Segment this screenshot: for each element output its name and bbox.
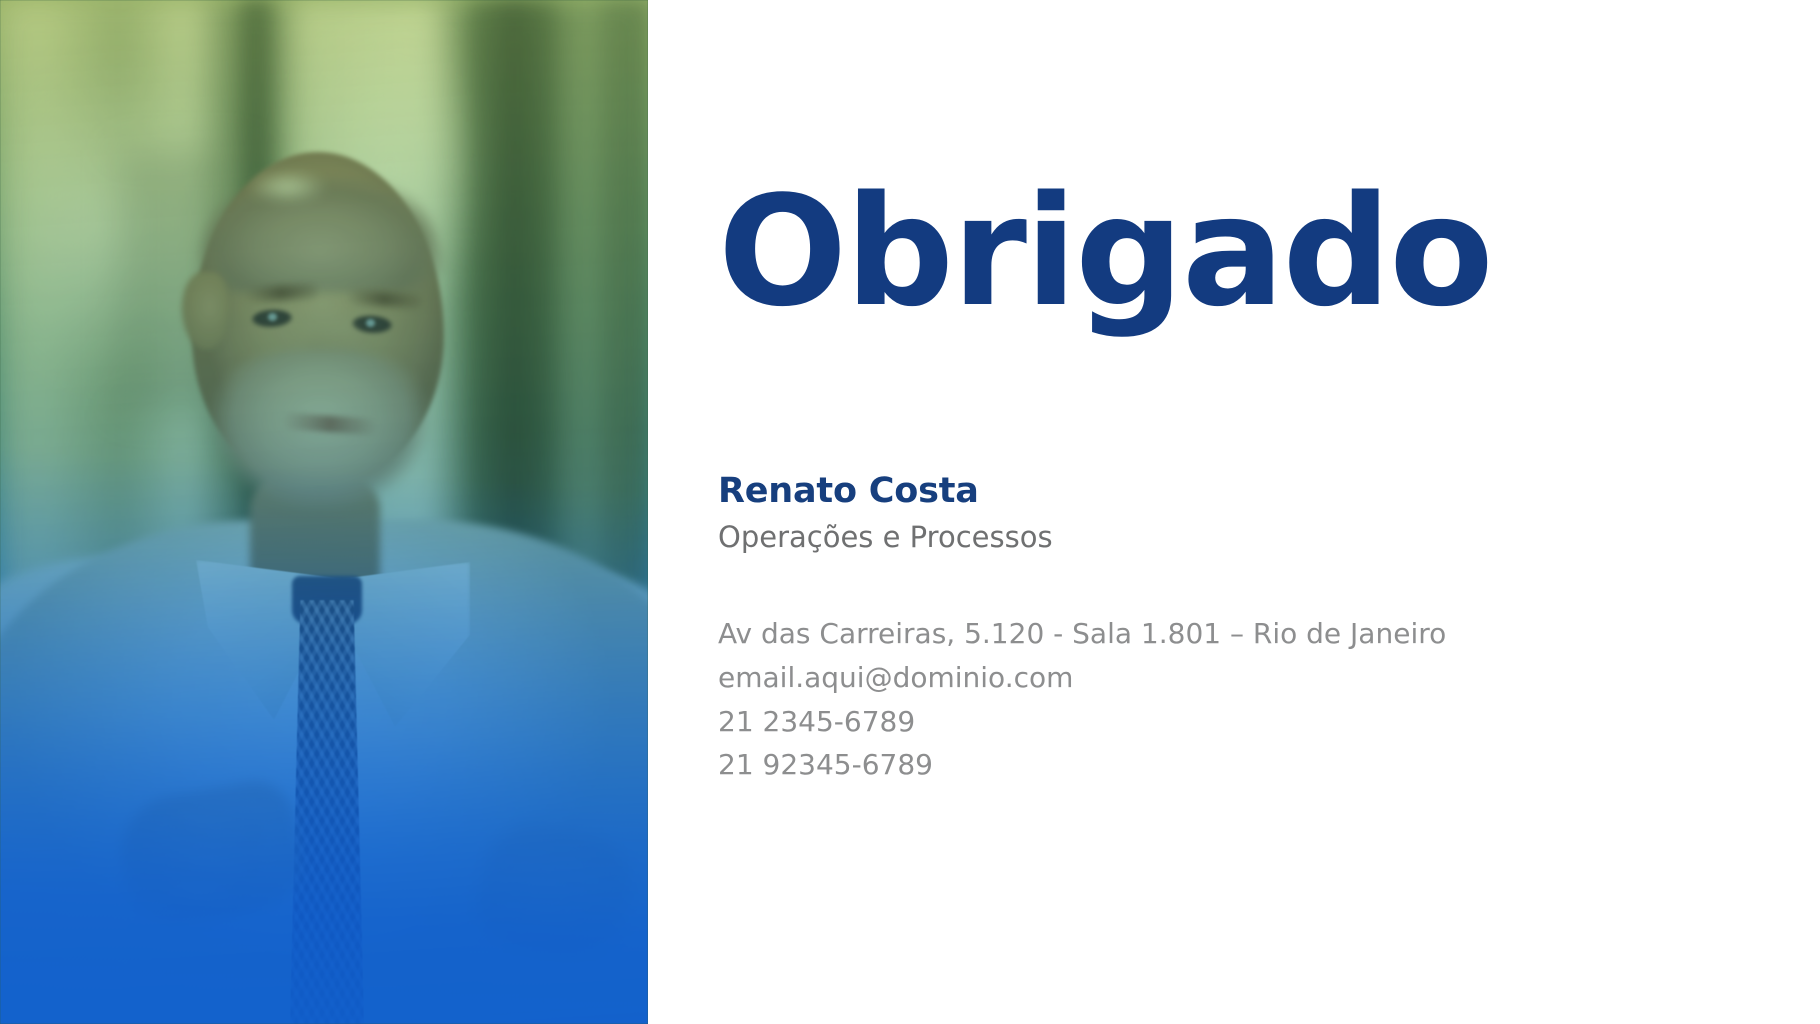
page-title: Obrigado <box>718 176 1492 328</box>
contact-phone-mobile[interactable]: 21 92345-6789 <box>718 743 1538 787</box>
contact-email[interactable]: email.aqui@dominio.com <box>718 656 1538 700</box>
contact-details-list: Av das Carreiras, 5.120 - Sala 1.801 – R… <box>718 612 1538 787</box>
blue-gradient-overlay <box>0 0 648 1024</box>
contact-phone-landline[interactable]: 21 2345-6789 <box>718 700 1538 744</box>
contact-card: Renato Costa Operações e Processos Av da… <box>718 470 1538 787</box>
contact-address: Av das Carreiras, 5.120 - Sala 1.801 – R… <box>718 612 1538 656</box>
portrait-photo <box>0 0 648 1024</box>
thank-you-slide: Obrigado Renato Costa Operações e Proces… <box>0 0 1820 1024</box>
contact-name: Renato Costa <box>718 470 1538 513</box>
photo-panel <box>0 0 648 1024</box>
content-panel: Obrigado Renato Costa Operações e Proces… <box>648 0 1820 1024</box>
contact-role: Operações e Processos <box>718 519 1538 557</box>
